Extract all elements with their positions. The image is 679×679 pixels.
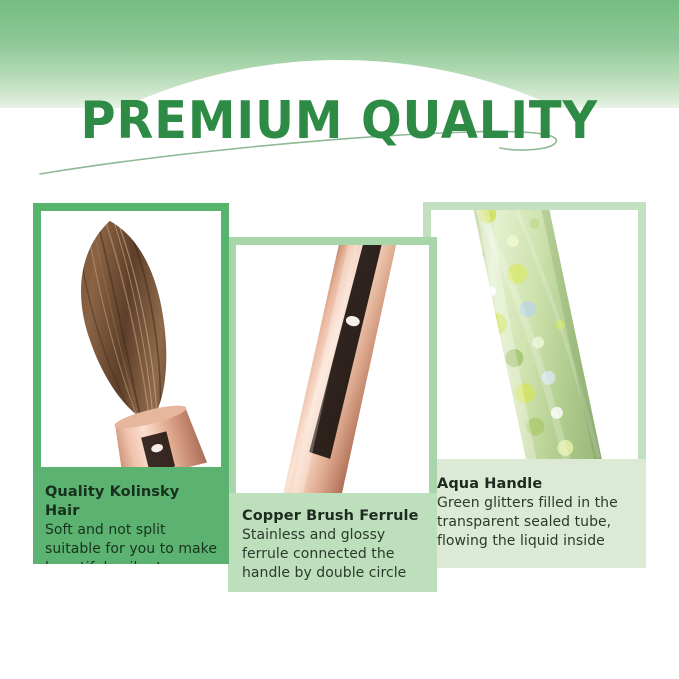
- card-text-block: Aqua Handle Green glitters filled in the…: [423, 459, 646, 568]
- page-title: PREMIUM QUALITY: [81, 92, 599, 150]
- copper-ferrule-photo: [236, 245, 429, 493]
- kolinsky-brush-hair-photo: [41, 211, 221, 477]
- card-photo-frame: [33, 203, 229, 485]
- card-body-text: Stainless and glossy ferrule connected t…: [242, 526, 423, 583]
- card-photo-frame: [423, 202, 646, 467]
- page-title-container: PREMIUM QUALITY: [0, 92, 679, 170]
- card-body-text: Soft and not split suitable for you to m…: [45, 521, 217, 564]
- aqua-glitter-handle-photo: [431, 210, 638, 459]
- card-heading: Aqua Handle: [437, 475, 632, 494]
- premium-quality-infographic: PREMIUM QUALITY: [0, 0, 679, 679]
- feature-card-aqua-handle: Aqua Handle Green glitters filled in the…: [423, 202, 646, 568]
- card-text-block: Quality Kolinsky Hair Soft and not split…: [33, 467, 229, 564]
- card-photo-frame: [228, 237, 437, 501]
- card-text-block: Copper Brush Ferrule Stainless and gloss…: [228, 493, 437, 592]
- card-heading: Copper Brush Ferrule: [242, 507, 423, 526]
- card-heading: Quality Kolinsky Hair: [45, 483, 217, 521]
- feature-card-kolinsky-hair: Quality Kolinsky Hair Soft and not split…: [33, 203, 229, 564]
- card-body-text: Green glitters filled in the transparent…: [437, 494, 632, 551]
- feature-card-copper-ferrule: Copper Brush Ferrule Stainless and gloss…: [228, 237, 437, 592]
